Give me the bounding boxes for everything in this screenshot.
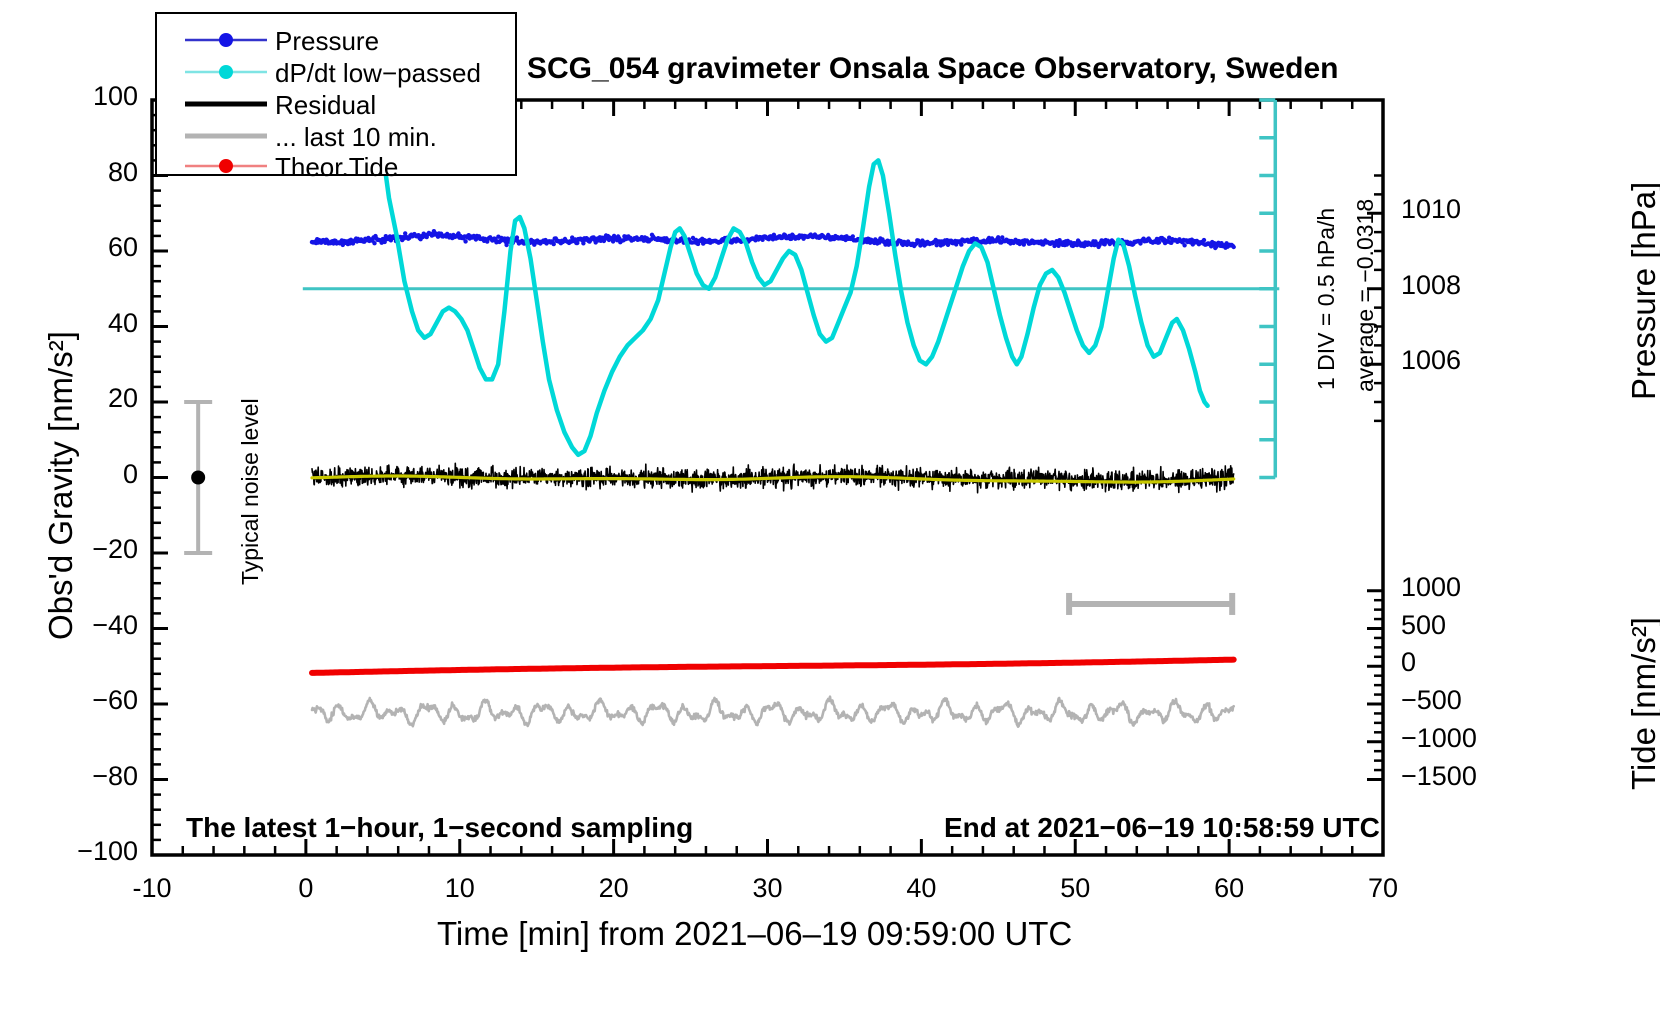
axis-tick-label: −40 — [92, 610, 138, 641]
legend-label-residual: Residual — [275, 90, 376, 121]
axis-tick-label: 0 — [1401, 647, 1416, 678]
axis-tick-label: 20 — [108, 383, 138, 414]
x-axis-title: Time [min] from 2021‒06‒19 09:59:00 UTC — [437, 915, 1072, 953]
axis-tick-label: −1500 — [1401, 761, 1477, 792]
legend-label-dpdt: dP/dt low−passed — [275, 58, 481, 89]
legend-label-pressure: Pressure — [275, 26, 379, 57]
axis-tick-label: −20 — [92, 534, 138, 565]
footer-note-right: End at 2021−06−19 10:58:59 UTC — [944, 812, 1380, 844]
axis-tick-label: 500 — [1401, 610, 1446, 641]
axis-tick-label: -10 — [132, 873, 171, 904]
axis-tick-label: 1008 — [1401, 270, 1461, 301]
axis-tick-label: 70 — [1368, 873, 1398, 904]
axis-tick-label: 1006 — [1401, 345, 1461, 376]
right-axis-title-tide: Tide [nm/s²] — [1625, 617, 1660, 790]
axis-tick-label: 40 — [906, 873, 936, 904]
axis-tick-label: 60 — [1214, 873, 1244, 904]
chart-root: SCG_054 gravimeter Onsala Space Observat… — [0, 0, 1660, 1020]
axis-tick-label: 1000 — [1401, 572, 1461, 603]
axis-tick-label: 60 — [108, 232, 138, 263]
axis-tick-label: 20 — [599, 873, 629, 904]
axis-tick-label: −1000 — [1401, 723, 1477, 754]
axis-tick-label: 10 — [445, 873, 475, 904]
axis-tick-label: 1010 — [1401, 194, 1461, 225]
annotation-average: average = −0.0318 — [1352, 199, 1379, 392]
legend: Pressure dP/dt low−passed Residual ... l… — [155, 12, 517, 176]
footer-note-left: The latest 1−hour, 1−second sampling — [186, 812, 693, 844]
axis-tick-label: 100 — [93, 81, 138, 112]
y-axis-title: Obs'd Gravity [nm/s²] — [42, 331, 80, 640]
chart-title: SCG_054 gravimeter Onsala Space Observat… — [527, 52, 1339, 86]
right-axis-title-pressure: Pressure [hPa] — [1625, 182, 1660, 400]
legend-label-last10: ... last 10 min. — [275, 122, 437, 153]
legend-label-theortide: Theor.Tide — [275, 152, 398, 183]
axis-tick-label: −60 — [92, 685, 138, 716]
axis-tick-label: 0 — [298, 873, 313, 904]
axis-tick-label: 80 — [108, 157, 138, 188]
axis-tick-label: 50 — [1060, 873, 1090, 904]
axis-tick-label: 30 — [752, 873, 782, 904]
axis-tick-label: −500 — [1401, 685, 1462, 716]
axis-tick-label: 40 — [108, 308, 138, 339]
axis-tick-label: −100 — [77, 836, 138, 867]
annotation-div-scale: 1 DIV = 0.5 hPa/h — [1313, 208, 1340, 390]
annotation-noise-level: Typical noise level — [237, 398, 264, 585]
axis-tick-label: −80 — [92, 761, 138, 792]
axis-tick-label: 0 — [123, 459, 138, 490]
